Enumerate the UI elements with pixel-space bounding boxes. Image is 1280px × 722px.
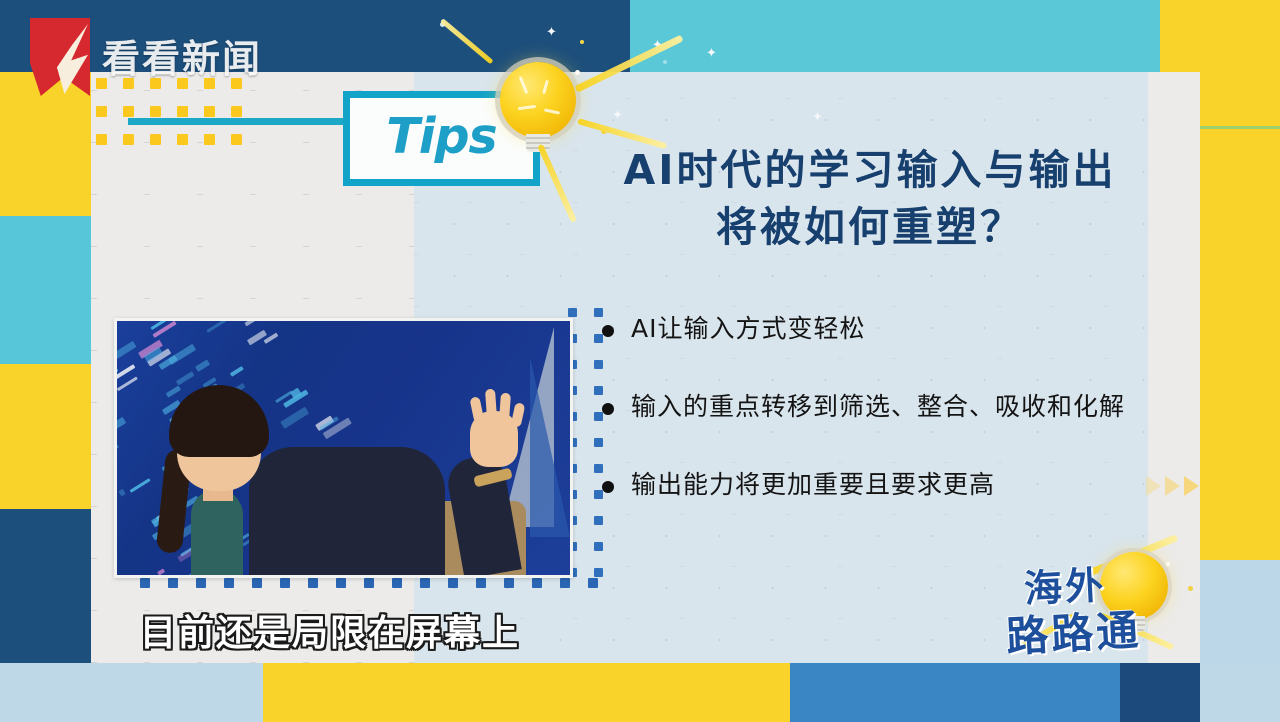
program-logo: 海外 路路通 bbox=[1012, 556, 1202, 668]
k-mark-logo-icon bbox=[30, 18, 90, 96]
sparkle-icon: ✦ bbox=[546, 25, 557, 38]
sparkle-icon: ✦ bbox=[812, 110, 823, 123]
sparkle-icon: ✦ bbox=[706, 46, 717, 59]
list-item: 输出能力将更加重要且要求更高 bbox=[602, 468, 1192, 502]
page-title: AI时代的学习输入与输出 将被如何重塑？ bbox=[560, 142, 1180, 255]
list-item: AI让输入方式变轻松 bbox=[602, 312, 1192, 346]
subtitle-caption: 目前还是局限在屏幕上 bbox=[140, 604, 520, 656]
bullet-list: AI让输入方式变轻松 输入的重点转移到筛选、整合、吸收和化解 输出能力将更加重要… bbox=[602, 312, 1192, 545]
headline-line-1: AI时代的学习输入与输出 bbox=[560, 142, 1180, 199]
triangle-arrows-icon bbox=[1146, 476, 1206, 498]
list-item: 输入的重点转移到筛选、整合、吸收和化解 bbox=[602, 390, 1192, 424]
broadcaster-logo: 看看新闻 bbox=[30, 18, 290, 80]
tips-label: Tips bbox=[386, 112, 496, 161]
bullet-dot-icon bbox=[602, 403, 614, 415]
broadcast-slide-frame: ✦✦✦✦✦✦✦ Tips AI时代的学习输入与输出 将被如何重塑？ AI让输入方… bbox=[0, 0, 1280, 722]
bullet-dot-icon bbox=[602, 481, 614, 493]
bullet-text: AI让输入方式变轻松 bbox=[631, 312, 865, 346]
guest-photo bbox=[114, 318, 573, 578]
bullet-text: 输出能力将更加重要且要求更高 bbox=[631, 468, 995, 502]
decor-dot bbox=[663, 60, 667, 64]
sparkle-icon: ✦ bbox=[612, 108, 623, 121]
lightbulb-icon bbox=[500, 62, 576, 138]
broadcaster-name: 看看新闻 bbox=[102, 28, 262, 83]
bullet-text: 输入的重点转移到筛选、整合、吸收和化解 bbox=[631, 390, 1125, 424]
bullet-dot-icon bbox=[602, 325, 614, 337]
program-name-line-2: 路路通 bbox=[1004, 597, 1142, 665]
decor-dot bbox=[580, 40, 584, 44]
headline-line-2: 将被如何重塑？ bbox=[560, 199, 1180, 256]
